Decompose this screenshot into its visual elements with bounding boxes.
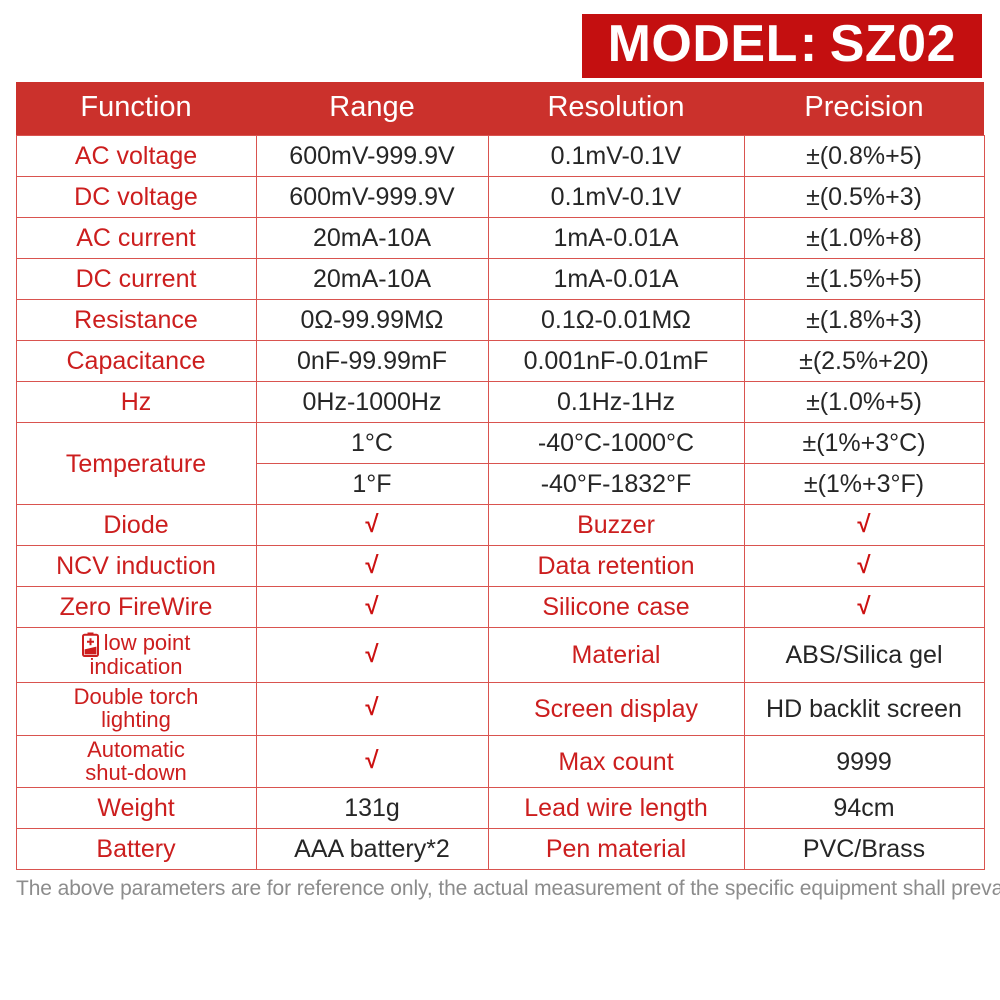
spec-sheet-page: MODEL : SZ02 Function Range Resolution P… [0,0,1000,1000]
row-precision-value: ±(1.0%+8) [744,218,984,259]
row-range-value: 0Hz-1000Hz [256,382,488,423]
feature-right-value: ABS/Silica gel [744,628,984,683]
model-banner: MODEL : SZ02 [582,14,982,78]
feature-left-check-icon: √ [256,546,488,587]
feature-right-check-icon: √ [744,587,984,628]
row-resolution-value: 0.1mV-0.1V [488,177,744,218]
model-banner-row: MODEL : SZ02 [0,0,1000,78]
model-label: MODEL [608,18,798,70]
row-function-label: Capacitance [16,341,256,382]
table-row-feature: Zero FireWire √ Silicone case √ [16,587,984,628]
table-row-feature-2line: Double torch lighting √ Screen display H… [16,682,984,735]
row-function-label: Resistance [16,300,256,341]
feature-left-check-icon: √ [256,735,488,788]
final-left-value: AAA battery*2 [256,829,488,870]
model-number: SZ02 [830,18,956,70]
temperature-celsius-precision: ±(1%+3°C) [744,423,984,464]
feature-left-label: Diode [16,505,256,546]
column-header-range: Range [256,82,488,136]
row-resolution-value: 0.1Ω-0.01MΩ [488,300,744,341]
row-range-value: 600mV-999.9V [256,177,488,218]
feature-left-label-double-torch: Double torch lighting [16,682,256,735]
row-precision-value: ±(0.5%+3) [744,177,984,218]
temperature-fahrenheit-resolution: -40°F-1832°F [488,464,744,505]
temperature-celsius-resolution: -40°C-1000°C [488,423,744,464]
row-function-label: DC current [16,259,256,300]
feature-right-label: Max count [488,735,744,788]
row-range-value: 600mV-999.9V [256,136,488,177]
feature-left-label-line2: indication [19,656,254,679]
feature-left-label-line1: low point [104,632,191,655]
row-resolution-value: 1mA-0.01A [488,259,744,300]
temperature-fahrenheit-range: 1°F [256,464,488,505]
feature-left-check-icon: √ [256,682,488,735]
feature-left-label: NCV induction [16,546,256,587]
row-resolution-value: 0.001nF-0.01mF [488,341,744,382]
feature-right-label: Screen display [488,682,744,735]
feature-left-check-icon: √ [256,587,488,628]
row-function-label: Hz [16,382,256,423]
specification-table: Function Range Resolution Precision AC v… [16,82,985,870]
row-resolution-value: 0.1mV-0.1V [488,136,744,177]
feature-right-value: 9999 [744,735,984,788]
row-function-label: AC current [16,218,256,259]
row-precision-value: ±(1.5%+5) [744,259,984,300]
feature-left-label-auto-shutdown: Automatic shut-down [16,735,256,788]
row-range-value: 20mA-10A [256,218,488,259]
table-body: AC voltage 600mV-999.9V 0.1mV-0.1V ±(0.8… [16,136,984,870]
row-precision-value: ±(0.8%+5) [744,136,984,177]
table-row-feature-2line: low point indication √ Material ABS/Sili… [16,628,984,683]
feature-left-check-icon: √ [256,628,488,683]
feature-left-label-line1: Double torch [19,686,254,709]
feature-left-label-line1: Automatic [19,739,254,762]
table-row: AC current 20mA-10A 1mA-0.01A ±(1.0%+8) [16,218,984,259]
table-row-final: Weight 131g Lead wire length 94cm [16,788,984,829]
feature-left-label-line2: shut-down [19,762,254,785]
row-function-label: AC voltage [16,136,256,177]
row-range-value: 0nF-99.99mF [256,341,488,382]
row-precision-value: ±(1.8%+3) [744,300,984,341]
table-row-final: Battery AAA battery*2 Pen material PVC/B… [16,829,984,870]
row-resolution-value: 0.1Hz-1Hz [488,382,744,423]
final-left-value: 131g [256,788,488,829]
temperature-fahrenheit-precision: ±(1%+3°F) [744,464,984,505]
footer-disclaimer: The above parameters are for reference o… [16,877,984,901]
final-left-label: Weight [16,788,256,829]
table-row: Hz 0Hz-1000Hz 0.1Hz-1Hz ±(1.0%+5) [16,382,984,423]
feature-left-label: Zero FireWire [16,587,256,628]
row-function-label-temperature: Temperature [16,423,256,505]
feature-right-check-icon: √ [744,505,984,546]
row-range-value: 0Ω-99.99MΩ [256,300,488,341]
feature-left-label-low-battery: low point indication [16,628,256,683]
final-right-value: 94cm [744,788,984,829]
feature-right-label: Buzzer [488,505,744,546]
row-function-label: DC voltage [16,177,256,218]
final-right-label: Pen material [488,829,744,870]
row-range-value: 20mA-10A [256,259,488,300]
final-right-label: Lead wire length [488,788,744,829]
table-row-feature-2line: Automatic shut-down √ Max count 9999 [16,735,984,788]
battery-low-icon [82,632,99,657]
final-right-value: PVC/Brass [744,829,984,870]
table-row-feature: NCV induction √ Data retention √ [16,546,984,587]
table-row-temperature-celsius: Temperature 1°C -40°C-1000°C ±(1%+3°C) [16,423,984,464]
temperature-celsius-range: 1°C [256,423,488,464]
feature-left-check-icon: √ [256,505,488,546]
feature-left-label-line2: lighting [19,709,254,732]
table-row: DC voltage 600mV-999.9V 0.1mV-0.1V ±(0.5… [16,177,984,218]
table-row: AC voltage 600mV-999.9V 0.1mV-0.1V ±(0.8… [16,136,984,177]
column-header-function: Function [16,82,256,136]
feature-right-label: Material [488,628,744,683]
row-precision-value: ±(1.0%+5) [744,382,984,423]
feature-right-label: Silicone case [488,587,744,628]
table-row: DC current 20mA-10A 1mA-0.01A ±(1.5%+5) [16,259,984,300]
feature-right-check-icon: √ [744,546,984,587]
model-colon: : [800,18,818,70]
row-precision-value: ±(2.5%+20) [744,341,984,382]
column-header-precision: Precision [744,82,984,136]
final-left-label: Battery [16,829,256,870]
table-row-feature: Diode √ Buzzer √ [16,505,984,546]
table-row: Capacitance 0nF-99.99mF 0.001nF-0.01mF ±… [16,341,984,382]
table-row: Resistance 0Ω-99.99MΩ 0.1Ω-0.01MΩ ±(1.8%… [16,300,984,341]
row-resolution-value: 1mA-0.01A [488,218,744,259]
table-header: Function Range Resolution Precision [16,82,984,136]
battery-label-line1: low point [19,631,254,656]
table-header-row: Function Range Resolution Precision [16,82,984,136]
column-header-resolution: Resolution [488,82,744,136]
feature-right-value: HD backlit screen [744,682,984,735]
feature-right-label: Data retention [488,546,744,587]
